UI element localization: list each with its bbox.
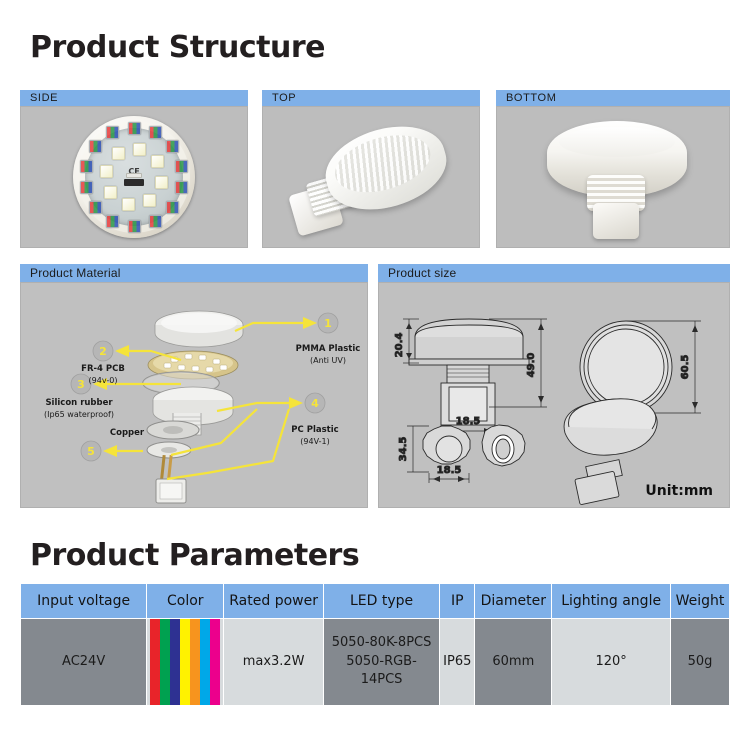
material-spec-silicon: (Ip65 waterproof) — [44, 410, 114, 419]
material-spec-pmma: (Anti UV) — [310, 356, 346, 365]
panel-size-body: 20.4 49.0 — [378, 282, 730, 508]
material-label-pmma: PMMA Plastic — [296, 344, 361, 354]
dim-label-nut-width: 18.5 — [437, 465, 462, 476]
led-rgb — [89, 201, 102, 214]
led-rgb — [175, 181, 188, 194]
page-title-product-parameters: Product Parameters — [30, 538, 359, 573]
led-pcb-photo: CE — [73, 116, 195, 238]
badge-number: 5 — [87, 445, 95, 458]
product-parameters-table: Input voltage Color Rated power LED type… — [20, 583, 730, 706]
material-label-pcb: FR-4 PCB — [81, 364, 125, 374]
color-swatch-4 — [180, 619, 190, 705]
led-white — [133, 143, 146, 156]
panel-side: SIDE CE — [20, 90, 248, 248]
panel-material-header: Product Material — [20, 264, 368, 282]
color-swatch-1 — [150, 619, 160, 705]
part-washer — [147, 421, 199, 439]
cell-input-voltage: AC24V — [21, 619, 146, 705]
pcb-ic-chip — [124, 179, 144, 186]
cell-led-type: 5050-80K-8PCS 5050-RGB-14PCS — [324, 619, 439, 705]
led-rgb — [166, 140, 179, 153]
badge-number: 1 — [324, 317, 332, 330]
material-label-copper: Copper — [110, 428, 145, 438]
pcb-face: CE — [85, 128, 183, 226]
column-header-led-type: LED type — [324, 584, 439, 618]
dim-label-diameter: 60.5 — [680, 355, 691, 380]
nut-plan-view — [423, 426, 470, 464]
led-type-line-2: 5050-RGB-14PCS — [346, 654, 417, 688]
led-rgb — [166, 201, 179, 214]
panel-product-material: Product Material — [20, 264, 368, 508]
gasket-ring-view — [482, 425, 525, 466]
led-rgb — [175, 160, 188, 173]
led-white — [100, 165, 113, 178]
led-white — [143, 194, 156, 207]
led-white — [155, 176, 168, 189]
panel-bottom: BOTTOM — [496, 90, 730, 248]
table-row: AC24V max3.2W 5050-80K-8PCS 5050-RGB-14P… — [21, 619, 729, 705]
color-swatch-6 — [200, 619, 210, 705]
dim-label-height-total: 49.0 — [526, 353, 537, 378]
cell-rated-power: max3.2W — [224, 619, 323, 705]
page-title-product-structure: Product Structure — [30, 30, 325, 65]
led-rgb — [128, 122, 141, 135]
front-elevation-view — [409, 319, 529, 425]
part-pmma-lens — [155, 311, 243, 347]
led-white — [151, 155, 164, 168]
dim-label-stem-width: 18.5 — [456, 416, 481, 427]
color-swatch-5 — [190, 619, 200, 705]
cell-lighting-angle: 120° — [552, 619, 670, 705]
panel-side-header: SIDE — [20, 90, 248, 106]
led-rgb — [128, 220, 141, 233]
led-rgb — [106, 126, 119, 139]
badge-number: 4 — [311, 397, 319, 410]
cell-diameter: 60mm — [475, 619, 551, 705]
panel-bottom-image — [496, 106, 730, 248]
part-connector-block — [156, 479, 186, 503]
column-header-ip: IP — [440, 584, 474, 618]
lamp-cable-nut — [593, 203, 639, 239]
panel-material-body: 1 2 3 4 5 PMMA P — [20, 282, 368, 508]
led-rgb — [106, 215, 119, 228]
column-header-rated-power: Rated power — [224, 584, 323, 618]
table-header-row: Input voltage Color Rated power LED type… — [21, 584, 729, 618]
lamp-top-render — [291, 123, 456, 241]
material-label-silicon: Silicon rubber — [45, 398, 113, 408]
panel-side-image: CE — [20, 106, 248, 248]
panel-product-size: Product size — [378, 264, 730, 508]
column-header-color: Color — [147, 584, 223, 618]
product-spec-page: Product Structure SIDE CE TOP — [0, 0, 750, 750]
callout-badge-2: 2 — [93, 341, 113, 361]
panel-top: TOP — [262, 90, 480, 248]
column-header-diameter: Diameter — [475, 584, 551, 618]
color-swatch-strip — [150, 619, 220, 705]
dim-label-nut-across: 34.5 — [398, 437, 409, 462]
led-white — [122, 198, 135, 211]
cell-weight: 50g — [671, 619, 729, 705]
column-header-lighting-angle: Lighting angle — [552, 584, 670, 618]
color-swatch-3 — [170, 619, 180, 705]
material-spec-pc: (94V-1) — [300, 437, 329, 446]
led-rgb — [149, 215, 162, 228]
led-rgb — [80, 181, 93, 194]
material-spec-pcb: (94v-0) — [89, 376, 118, 385]
panel-top-header: TOP — [262, 90, 480, 106]
pcb-resistor — [126, 173, 142, 178]
dimension-drawing: 20.4 49.0 — [379, 283, 729, 507]
cell-color-swatches — [147, 619, 223, 705]
led-white — [104, 186, 117, 199]
panel-size-header: Product size — [378, 264, 730, 282]
column-header-weight: Weight — [671, 584, 729, 618]
led-white — [112, 147, 125, 160]
exploded-view-diagram: 1 2 3 4 5 PMMA P — [21, 283, 367, 507]
callout-badge-5: 5 — [81, 441, 101, 461]
unit-label: Unit:mm — [645, 483, 713, 499]
led-rgb — [80, 160, 93, 173]
badge-number: 3 — [77, 378, 85, 391]
part-washer-2 — [147, 442, 191, 458]
column-header-input-voltage: Input voltage — [21, 584, 146, 618]
callout-badge-1: 1 — [318, 313, 338, 333]
dim-label-height-dome: 20.4 — [394, 333, 405, 358]
led-rgb — [149, 126, 162, 139]
callout-badge-4: 4 — [305, 393, 325, 413]
panel-top-image — [262, 106, 480, 248]
material-label-pc: PC Plastic — [291, 425, 338, 435]
badge-number: 2 — [99, 345, 107, 358]
lamp-bottom-render — [541, 119, 691, 243]
color-swatch-7 — [210, 619, 220, 705]
led-type-line-1: 5050-80K-8PCS — [332, 635, 432, 650]
isometric-lamp-view — [564, 399, 657, 505]
color-swatch-2 — [160, 619, 170, 705]
panel-bottom-header: BOTTOM — [496, 90, 730, 106]
cell-ip: IP65 — [440, 619, 474, 705]
led-rgb — [89, 140, 102, 153]
